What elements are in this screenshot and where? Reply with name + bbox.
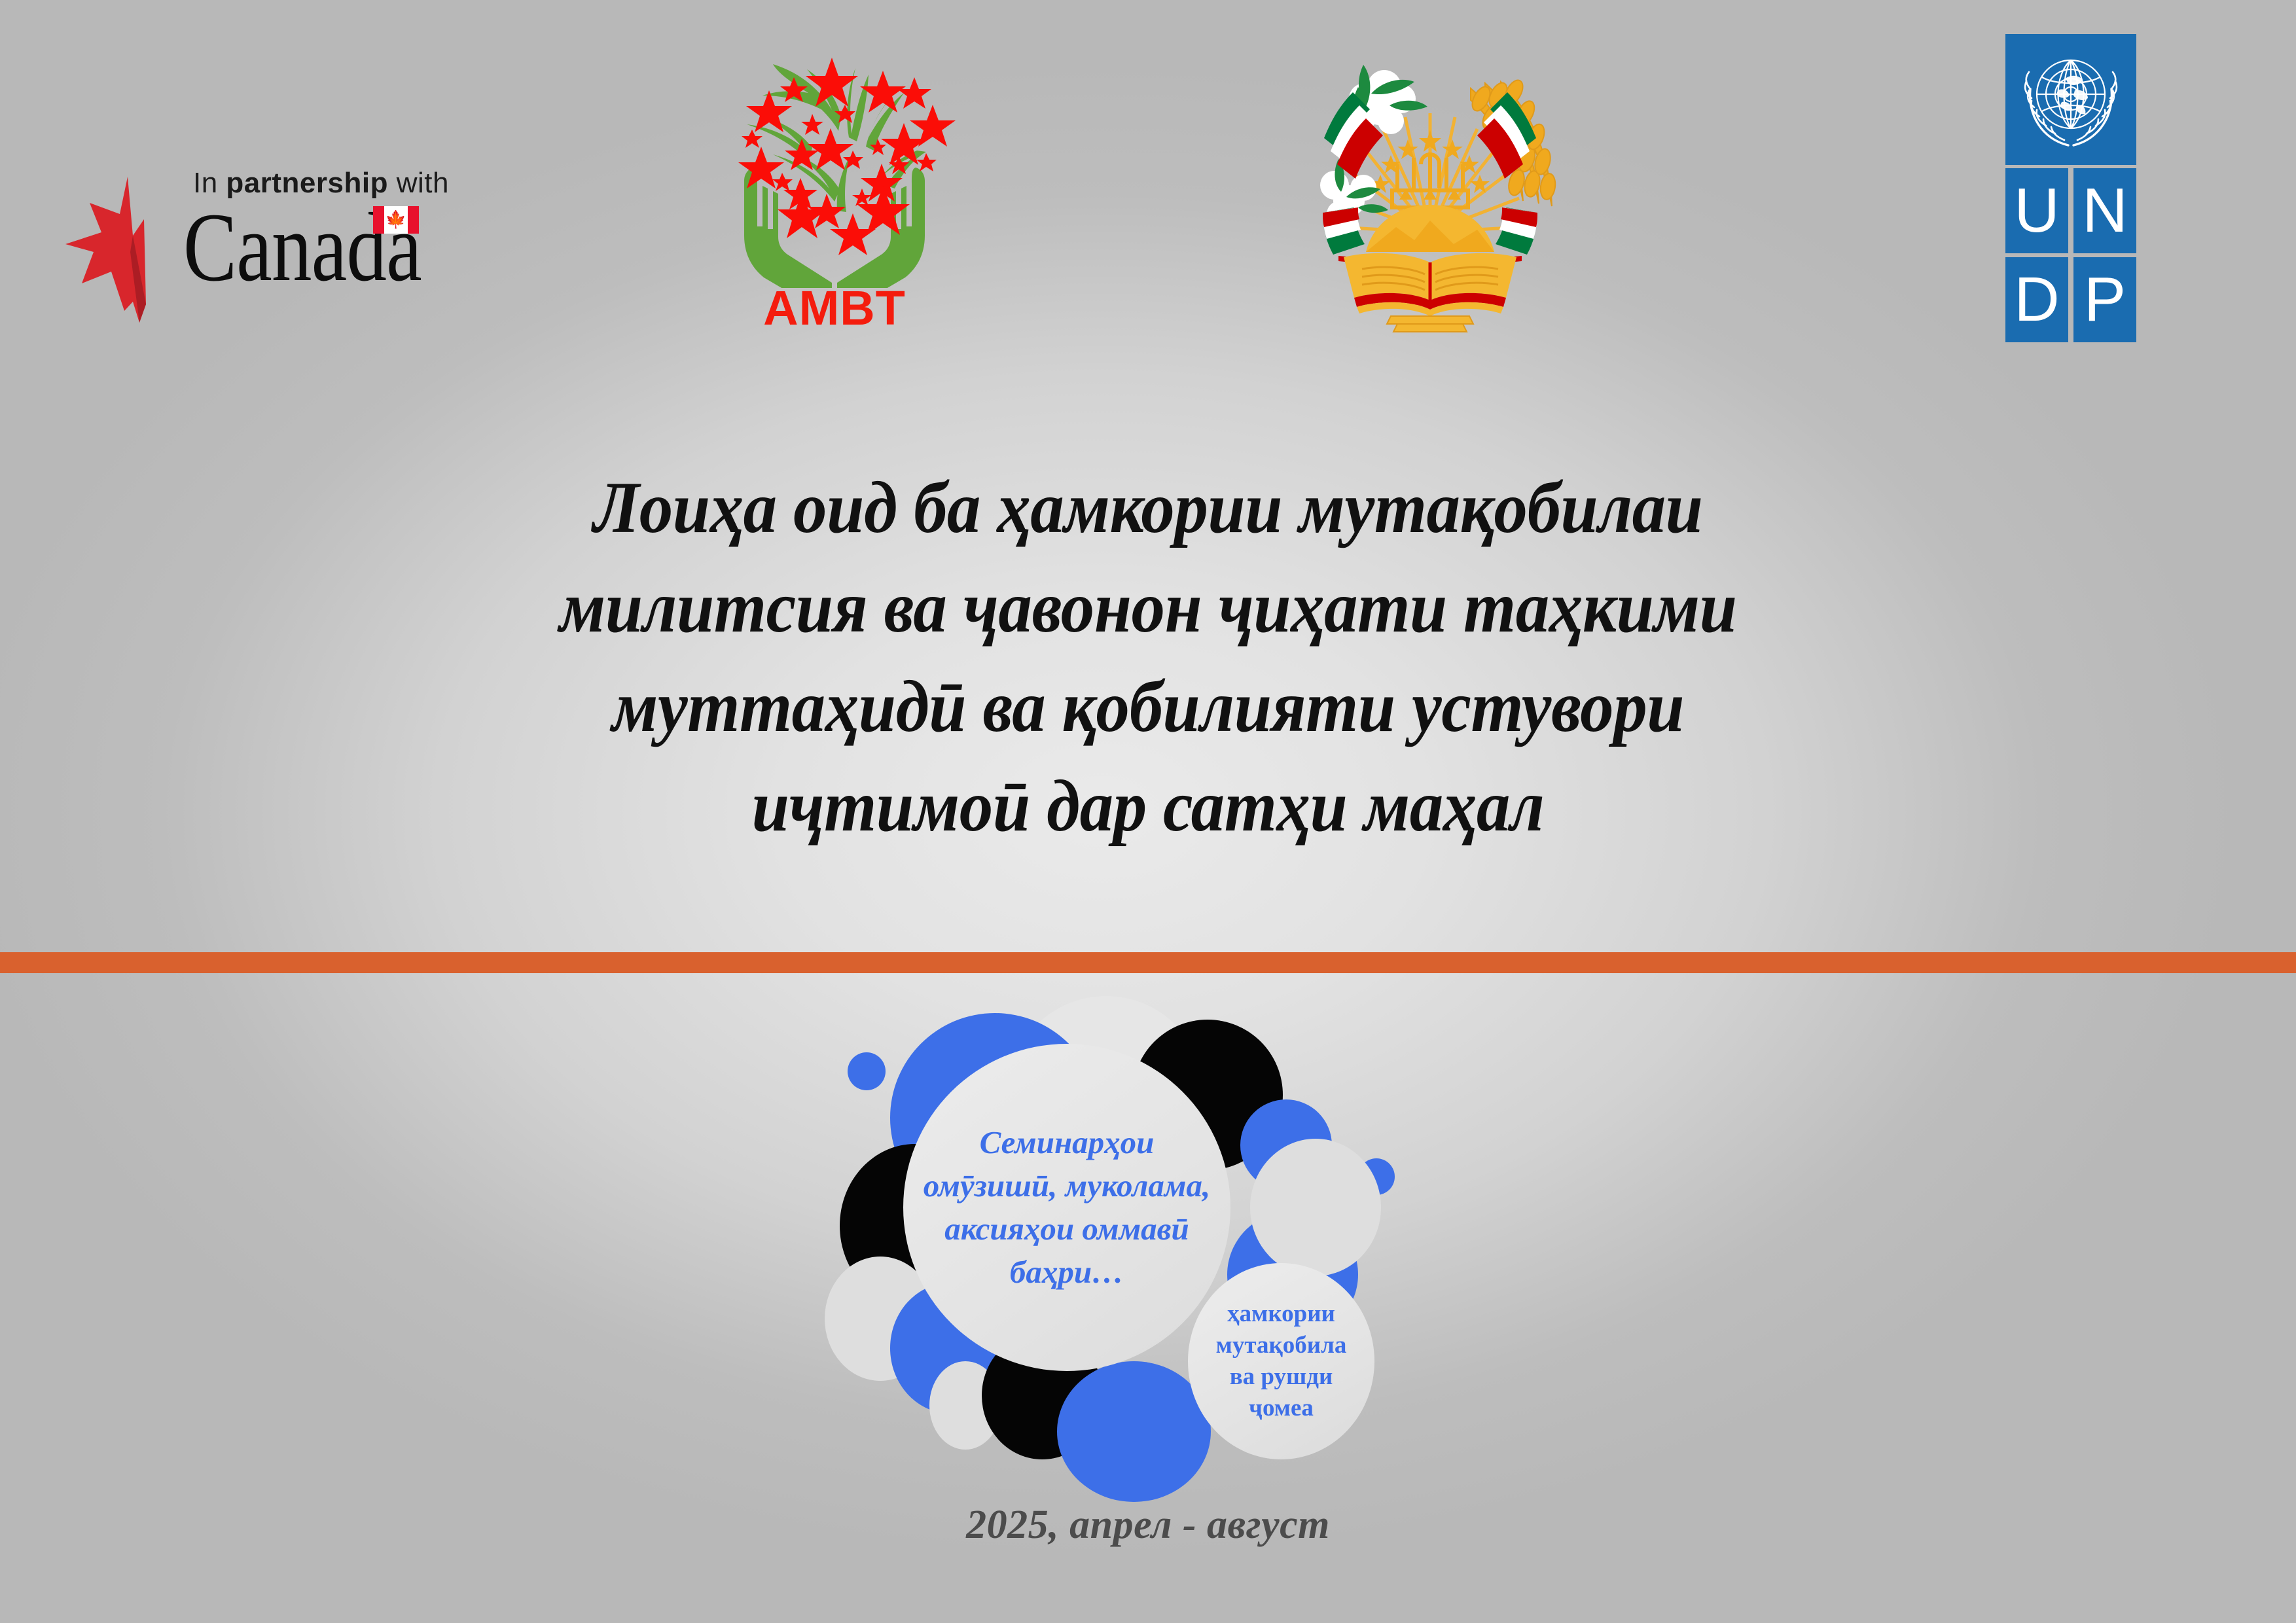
poster-canvas: In partnership with Canada 🍁 xyxy=(0,0,2296,1623)
canada-flag-swoosh-icon xyxy=(62,173,167,324)
center-bubble-text: Семинарҳои омӯзишӣ, муколама, аксияҳои о… xyxy=(923,1121,1211,1294)
side-bubble-line-4: ҷомеа xyxy=(1203,1393,1360,1424)
project-title: Лоиҳа оид ба ҳамкории мутақобилаи милитс… xyxy=(0,458,2296,856)
undp-letter-p: P xyxy=(2073,257,2136,342)
side-bubble: ҳамкории мутақобила ва рушди ҷомеа xyxy=(1188,1263,1374,1459)
undp-letter-n-tile: N xyxy=(2073,168,2136,253)
side-bubble-line-1: ҳамкории xyxy=(1203,1298,1360,1330)
undp-letter-u: U xyxy=(2005,168,2068,253)
title-line-2: милитсия ва ҷавонон ҷиҳати таҳкими xyxy=(291,558,2005,657)
bubble-blue-bottom xyxy=(1057,1361,1211,1502)
center-bubble-line-2: омӯзишӣ, муколама, xyxy=(923,1164,1211,1207)
tajikistan-emblem-icon xyxy=(1293,36,1568,334)
side-bubble-line-2: мутақобила xyxy=(1203,1330,1360,1361)
un-emblem-tile xyxy=(2005,34,2136,165)
ambt-logo: AMBT xyxy=(710,39,959,327)
maple-leaf-icon: 🍁 xyxy=(386,211,406,228)
center-bubble: Семинарҳои омӯзишӣ, муколама, аксияҳои о… xyxy=(903,1044,1230,1371)
un-globe-and-laurel-icon xyxy=(2005,34,2136,165)
flag-band-left xyxy=(373,206,384,234)
logo-strip: In partnership with Canada 🍁 xyxy=(0,0,2296,366)
flag-band-center: 🍁 xyxy=(384,206,408,234)
ambt-acronym: AMBT xyxy=(710,284,959,332)
undp-letter-d: D xyxy=(2005,257,2068,342)
canada-wordmark: In partnership with Canada 🍁 xyxy=(62,167,586,330)
side-bubble-text: ҳамкории мутақобила ва рушди ҷомеа xyxy=(1203,1298,1360,1424)
title-line-3: муттаҳидӣ ва қобилияти устувори xyxy=(291,657,2005,757)
canada-mini-flag-icon: 🍁 xyxy=(373,206,419,234)
title-line-1: Лоиҳа оид ба ҳамкории мутақобилаи xyxy=(291,458,2005,558)
center-bubble-line-3: аксияҳои оммавӣ xyxy=(923,1207,1211,1251)
undp-letter-d-tile: D xyxy=(2005,257,2068,342)
bubble-pale-right-top xyxy=(1250,1139,1381,1276)
center-bubble-line-1: Семинарҳои xyxy=(923,1121,1211,1164)
undp-letter-u-tile: U xyxy=(2005,168,2068,253)
undp-letter-n: N xyxy=(2073,168,2136,253)
bubble-blue-small-left xyxy=(848,1052,886,1090)
date-range-label: 2025, апрел - август xyxy=(0,1502,2296,1548)
side-bubble-line-3: ва рушди xyxy=(1203,1361,1360,1393)
title-line-4: иҷтимоӣ дар сатҳи маҳал xyxy=(291,757,2005,856)
orange-divider-rule xyxy=(0,952,2296,973)
undp-letter-p-tile: P xyxy=(2073,257,2136,342)
ambt-hands-and-stars-icon xyxy=(710,39,959,288)
undp-logo: U N D P xyxy=(1991,34,2128,342)
bubble-diagram: Семинарҳои омӯзишӣ, муколама, аксияҳои о… xyxy=(769,975,1443,1518)
tajikistan-state-emblem xyxy=(1293,36,1568,334)
flag-band-right xyxy=(408,206,419,234)
center-bubble-line-4: баҳри… xyxy=(923,1251,1211,1294)
